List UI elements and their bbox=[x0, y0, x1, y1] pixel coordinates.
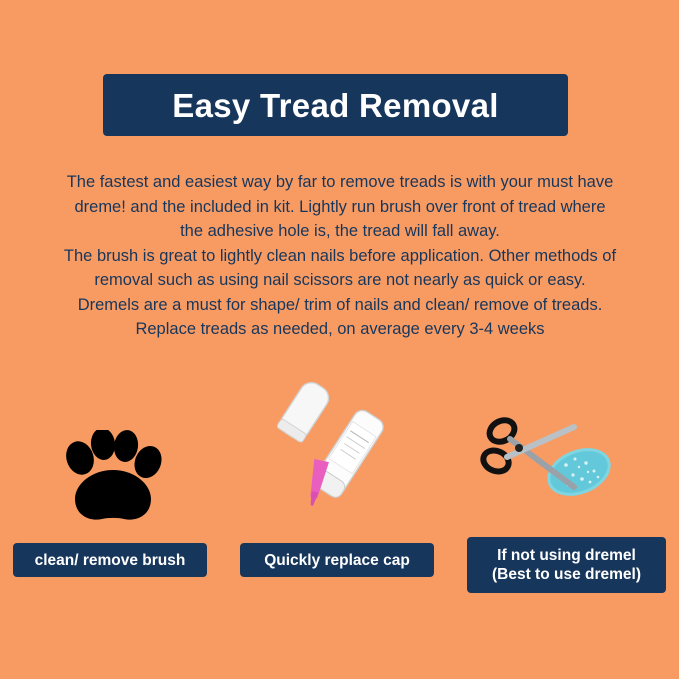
paw-print-icon bbox=[58, 430, 168, 525]
paragraph-4-line-1: Replace treads as needed, on average eve… bbox=[26, 317, 654, 342]
body-copy: The fastest and easiest way by far to re… bbox=[26, 170, 654, 342]
chip-2-label: Quickly replace cap bbox=[264, 551, 410, 570]
paragraph-1-line-3: the adhesive hole is, the tread will fal… bbox=[26, 219, 654, 244]
infographic-page: Easy Tread Removal The fastest and easie… bbox=[0, 0, 679, 679]
paragraph-2-line-2: removal such as using nail scissors are … bbox=[26, 268, 654, 293]
label-chip-if-not-using-dremel: If not using dremel (Best to use dremel) bbox=[467, 537, 666, 593]
paragraph-3-line-1: Dremels are a must for shape/ trim of na… bbox=[26, 293, 654, 318]
label-chip-clean-remove-brush: clean/ remove brush bbox=[13, 543, 207, 577]
chip-1-label: clean/ remove brush bbox=[35, 551, 186, 570]
paragraph-1-line-2: dreme! and the included in kit. Lightly … bbox=[26, 195, 654, 220]
chip-3-label-line-2: (Best to use dremel) bbox=[492, 565, 641, 584]
paragraph-1-line-1: The fastest and easiest way by far to re… bbox=[26, 170, 654, 195]
scissors-icon bbox=[478, 415, 628, 525]
title-banner: Easy Tread Removal bbox=[103, 74, 568, 136]
label-chip-quickly-replace-cap: Quickly replace cap bbox=[240, 543, 434, 577]
paragraph-2-line-1: The brush is great to lightly clean nail… bbox=[26, 244, 654, 269]
nail-glue-pen-icon bbox=[255, 380, 415, 520]
page-title: Easy Tread Removal bbox=[172, 89, 498, 122]
chip-3-label-line-1: If not using dremel bbox=[492, 546, 641, 565]
